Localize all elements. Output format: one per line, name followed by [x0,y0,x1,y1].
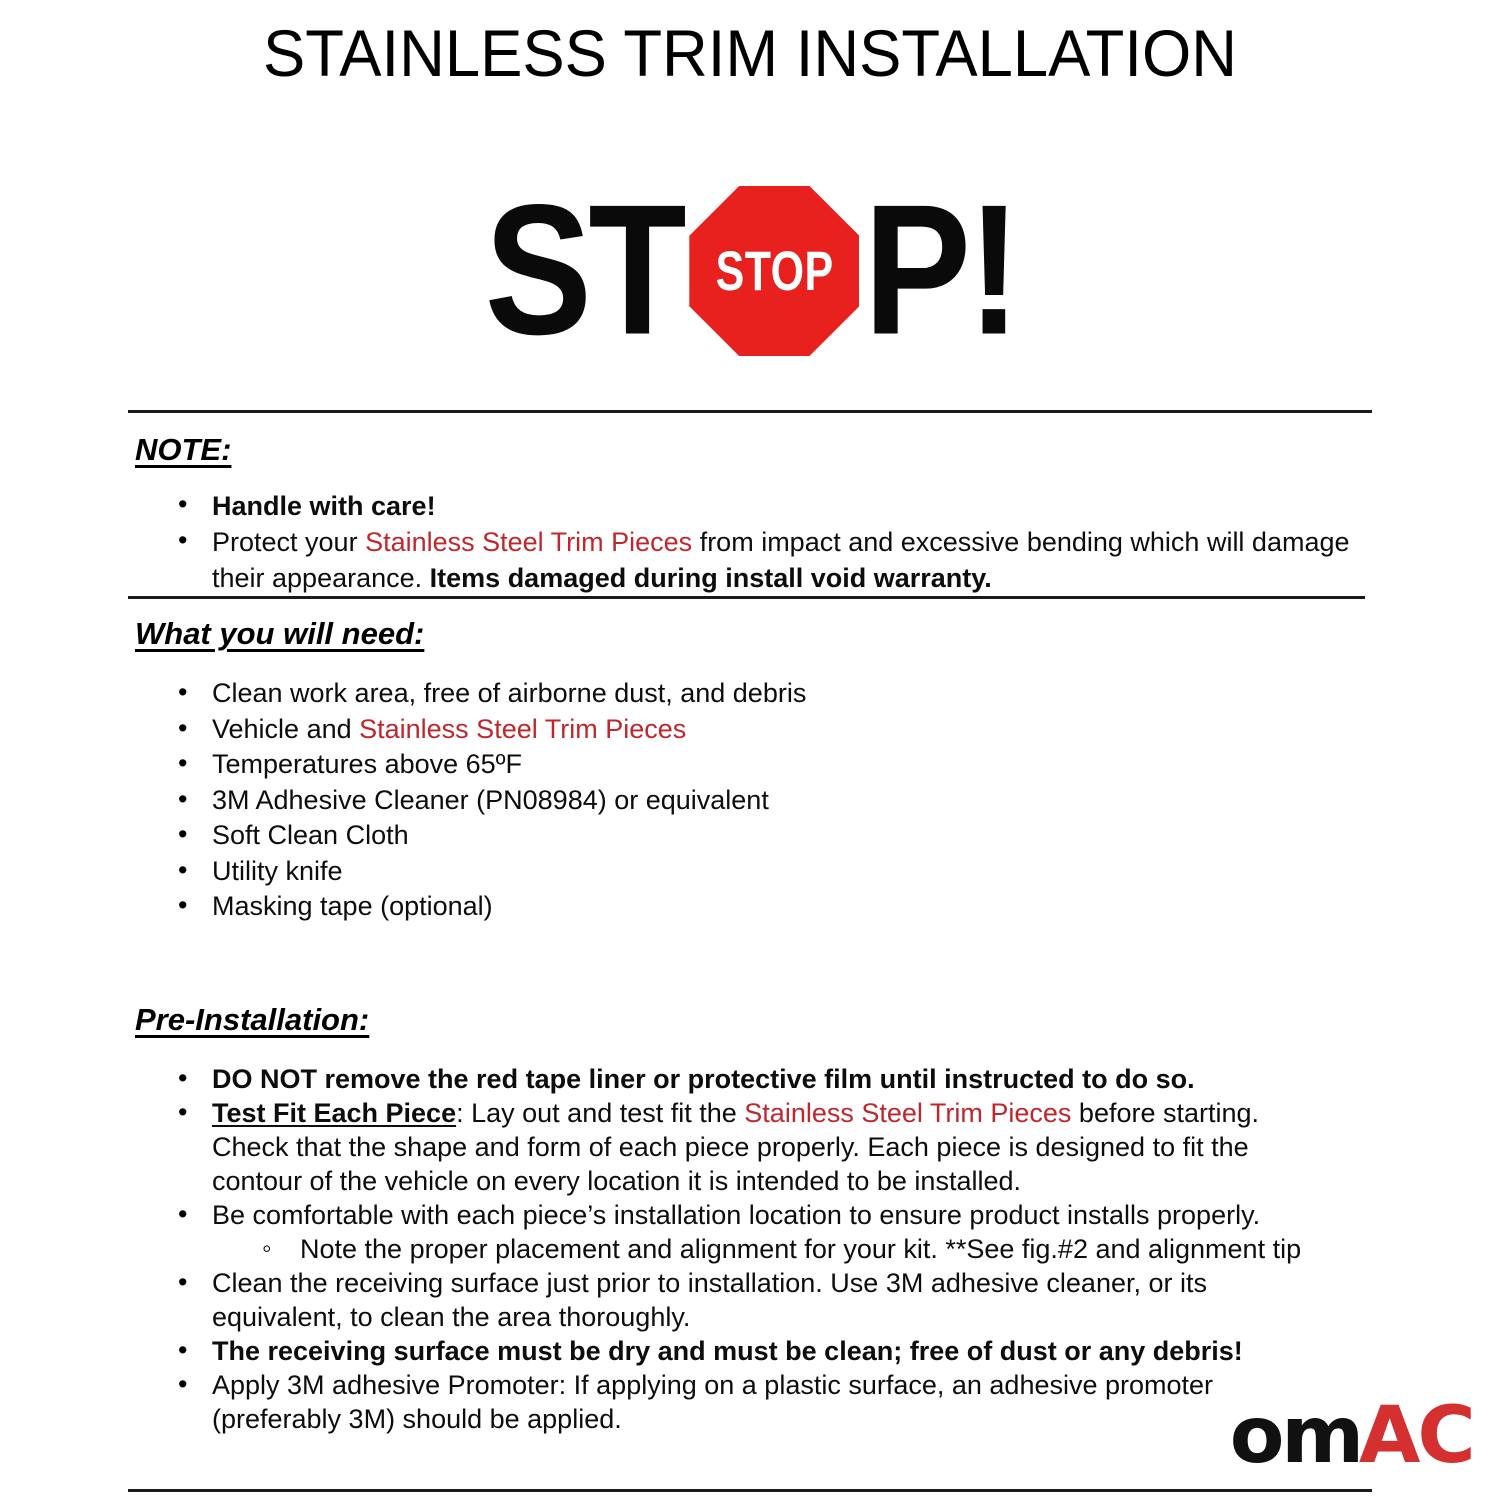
text-run: Items damaged during install void warran… [430,563,992,593]
omac-brand-logo: omAC [1231,1398,1472,1474]
needs-list: Clean work area, free of airborne dust, … [0,676,1500,925]
list-item: Clean work area, free of airborne dust, … [0,676,1500,712]
text-run: DO NOT remove the red tape liner or prot… [212,1064,1195,1094]
text-run: Clean the receiving surface just prior t… [212,1268,1207,1332]
list-item: Temperatures above 65ºF [0,747,1500,783]
text-run: Temperatures above 65ºF [212,749,522,779]
text-run: Test Fit Each Piece [212,1098,456,1128]
text-run: Utility knife [212,856,343,886]
divider-bottom [128,1489,1372,1492]
list-item: Be comfortable with each piece’s install… [0,1198,1500,1232]
divider-note [128,596,1365,599]
section-heading-note: NOTE: [135,432,231,468]
text-run: Stainless Steel Trim Pieces [365,527,692,557]
text-run: 3M Adhesive Cleaner (PN08984) or equival… [212,785,769,815]
page-title: STAINLESS TRIM INSTALLATION [30,14,1470,92]
text-run: Note the proper placement and alignment … [300,1234,1301,1264]
list-item: Vehicle and Stainless Steel Trim Pieces [0,712,1500,748]
list-item: Utility knife [0,854,1500,890]
text-run: Be comfortable with each piece’s install… [212,1200,1260,1230]
section-heading-needs: What you will need: [135,616,424,652]
stop-letters-right: P! [864,192,1018,351]
stop-sign-label: STOP [715,243,833,299]
text-run: Handle with care! [212,491,436,521]
note-list: Handle with care!Protect your Stainless … [0,488,1500,596]
list-item: Handle with care! [0,488,1500,524]
preinstall-list: DO NOT remove the red tape liner or prot… [0,1062,1500,1436]
text-run: Clean work area, free of airborne dust, … [212,678,806,708]
stop-wordmark: ST STOP P! [476,186,1025,356]
text-run: Stainless Steel Trim Pieces [359,714,686,744]
list-item: Clean the receiving surface just prior t… [0,1266,1500,1334]
sub-list-item: Note the proper placement and alignment … [0,1232,1500,1266]
text-run: Stainless Steel Trim Pieces [744,1098,1071,1128]
list-item: Protect your Stainless Steel Trim Pieces… [0,524,1500,596]
omac-logo-dark-text: om [1229,1398,1360,1474]
list-item: Soft Clean Cloth [0,818,1500,854]
list-item: 3M Adhesive Cleaner (PN08984) or equival… [0,783,1500,819]
list-item: Masking tape (optional) [0,889,1500,925]
text-run: The receiving surface must be dry and mu… [212,1336,1243,1366]
stop-letters-left: ST [484,192,682,351]
list-item: The receiving surface must be dry and mu… [0,1334,1500,1368]
text-run: : Lay out and test fit the [456,1098,744,1128]
text-run: Protect your [212,527,365,557]
text-run: Apply 3M adhesive Promoter: If applying … [212,1370,1213,1434]
omac-logo-red-text: AC [1359,1398,1473,1474]
text-run: Soft Clean Cloth [212,820,409,850]
document-page: STAINLESS TRIM INSTALLATION ST STOP P! N… [0,0,1500,1500]
list-item: Test Fit Each Piece: Lay out and test fi… [0,1096,1500,1198]
stop-sign-icon: STOP [683,180,865,362]
stop-logo: ST STOP P! [0,176,1500,366]
text-run: Vehicle and [212,714,359,744]
text-run: Masking tape (optional) [212,891,493,921]
list-item: DO NOT remove the red tape liner or prot… [0,1062,1500,1096]
divider-top [128,410,1372,413]
section-heading-preinstallation: Pre-Installation: [135,1002,369,1038]
